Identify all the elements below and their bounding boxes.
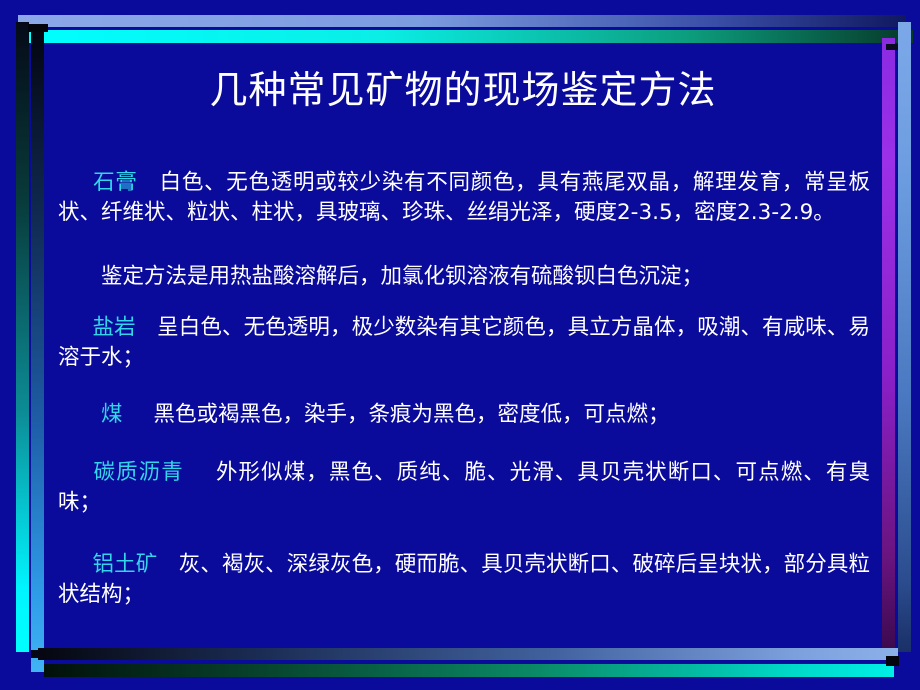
corner-notch-top-right [886, 44, 898, 50]
entry-term-coal: 煤 [101, 402, 123, 427]
entry-description-bauxite: 灰、褐灰、深绿灰色，硬而脆、具贝壳状断口、破碎后呈块状，部分具粒状结构； [58, 552, 870, 607]
slide-content: 几种常见矿物的现场鉴定方法 石膏白色、无色透明或较少染有不同颜色，具有燕尾双晶，… [52, 0, 874, 690]
right-decorative-bar-1 [882, 38, 895, 648]
left-decorative-bar-1 [16, 22, 29, 652]
entry-description-gypsum: 白色、无色透明或较少染有不同颜色，具有燕尾双晶，解理发育，常呈板状、纤维状、粒状… [58, 170, 870, 225]
entry-description-coal: 黑色或褐黑色，染手，条痕为黑色，密度低，可点燃； [154, 402, 670, 427]
entry-halite: 盐岩呈白色、无色透明，极少数染有其它颜色，具立方晶体，吸潮、有咸味、易溶于水； [58, 313, 870, 373]
right-decorative-bar-2 [898, 22, 911, 652]
corner-notch-bottom-left [31, 650, 43, 658]
entry-gypsum-identification: 鉴定方法是用热盐酸溶解后，加氯化钡溶液有硫酸钡白色沉淀； [58, 262, 870, 292]
left-decorative-bar-2 [31, 24, 44, 672]
corner-notch-bottom-right [886, 656, 899, 666]
entry-term-carbonaceous-bitumen: 碳质沥青 [92, 460, 183, 485]
entry-description-gypsum-identification: 鉴定方法是用热盐酸溶解后，加氯化钡溶液有硫酸钡白色沉淀； [101, 264, 703, 289]
entry-description-halite: 呈白色、无色透明，极少数染有其它颜色，具立方晶体，吸潮、有咸味、易溶于水； [58, 315, 870, 370]
entry-coal: 煤黑色或褐黑色，染手，条痕为黑色，密度低，可点燃； [58, 400, 870, 430]
entry-term-halite: 盐岩 [92, 315, 135, 340]
entry-bauxite: 铝土矿灰、褐灰、深绿灰色，硬而脆、具贝壳状断口、破碎后呈块状，部分具粒状结构； [58, 550, 870, 610]
entry-carbonaceous-bitumen: 碳质沥青外形似煤，黑色、质纯、脆、光滑、具贝壳状断口、可点燃、有臭味； [58, 458, 870, 518]
slide-title: 几种常见矿物的现场鉴定方法 [52, 66, 874, 114]
entry-gypsum: 石膏白色、无色透明或较少染有不同颜色，具有燕尾双晶，解理发育，常呈板状、纤维状、… [58, 168, 870, 228]
entry-term-gypsum: 石膏 [92, 170, 137, 195]
slide-canvas: 几种常见矿物的现场鉴定方法 石膏白色、无色透明或较少染有不同颜色，具有燕尾双晶，… [0, 0, 920, 690]
entry-term-bauxite: 铝土矿 [92, 552, 157, 577]
corner-notch-top-left [28, 24, 48, 32]
